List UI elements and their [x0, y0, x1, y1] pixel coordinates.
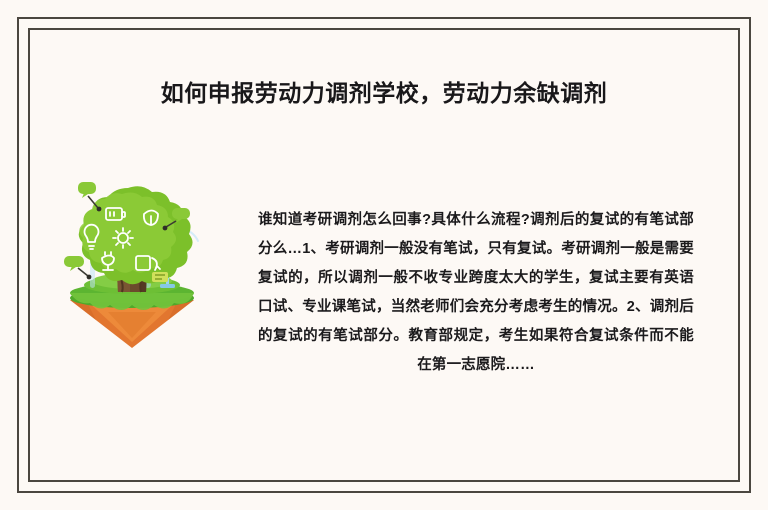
- tag-label: [152, 272, 168, 282]
- eco-island-illustration: [56, 180, 208, 350]
- speech-bubble-left: [64, 256, 91, 279]
- article-page: 如何申报劳动力调剂学校，劳动力余缺调剂: [0, 0, 768, 510]
- page-title: 如何申报劳动力调剂学校，劳动力余缺调剂: [60, 78, 708, 108]
- tree-canopy: [79, 186, 193, 284]
- speech-bubble-top-left: [78, 182, 101, 211]
- article-body-text: 谁知道考研调剂怎么回事?具体什么流程?调剂后的复试的有笔试部分么…1、考研调剂一…: [258, 206, 694, 380]
